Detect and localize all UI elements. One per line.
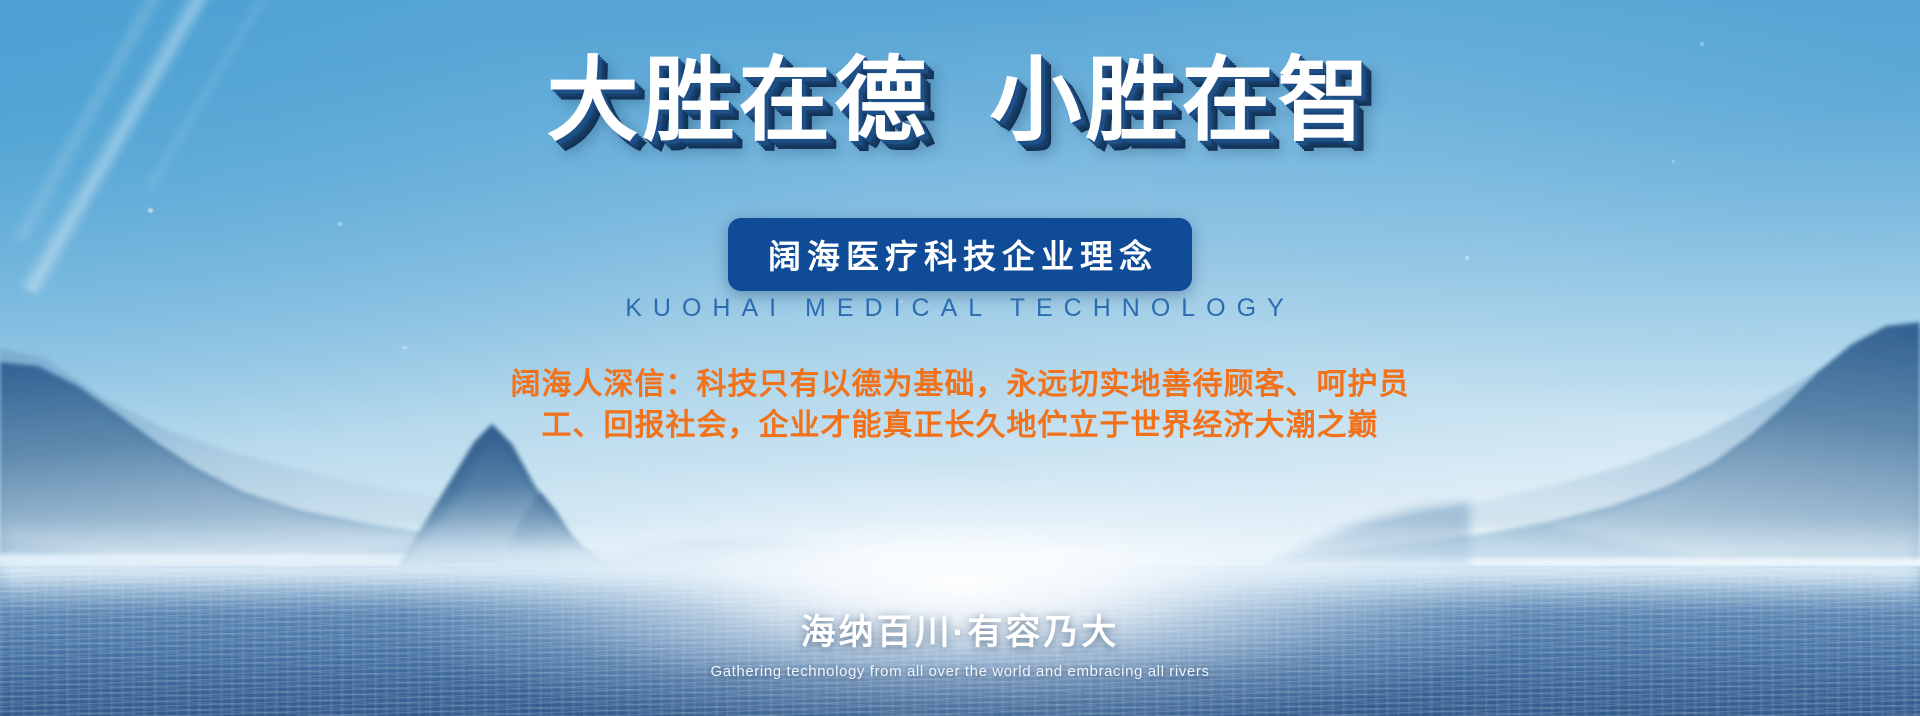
footer-tagline-block: 海纳百川·有容乃大 Gathering technology from all …: [0, 604, 1920, 680]
footer-tagline-cn: 海纳百川·有容乃大: [0, 604, 1920, 655]
subtitle-english: KUOHAI MEDICAL TECHNOLOGY: [0, 294, 1920, 323]
body-line-2: 工、回报社会，企业才能真正长久地伫立于世界经济大潮之巅: [430, 405, 1490, 446]
philosophy-badge-wrapper: 阔海医疗科技企业理念: [0, 218, 1920, 291]
body-line-1: 阔海人深信：科技只有以德为基础，永远切实地善待顾客、呵护员: [430, 364, 1490, 405]
philosophy-body-copy: 阔海人深信：科技只有以德为基础，永远切实地善待顾客、呵护员 工、回报社会，企业才…: [430, 364, 1490, 447]
company-philosophy-banner: 大胜在德 小胜在智 阔海医疗科技企业理念 KUOHAI MEDICAL TECH…: [0, 0, 1920, 716]
page-title: 大胜在德 小胜在智: [0, 52, 1920, 151]
banner-content: 大胜在德 小胜在智 阔海医疗科技企业理念 KUOHAI MEDICAL TECH…: [0, 0, 1920, 716]
footer-tagline-en: Gathering technology from all over the w…: [0, 663, 1920, 680]
status-badge: 阔海医疗科技企业理念: [728, 218, 1192, 291]
